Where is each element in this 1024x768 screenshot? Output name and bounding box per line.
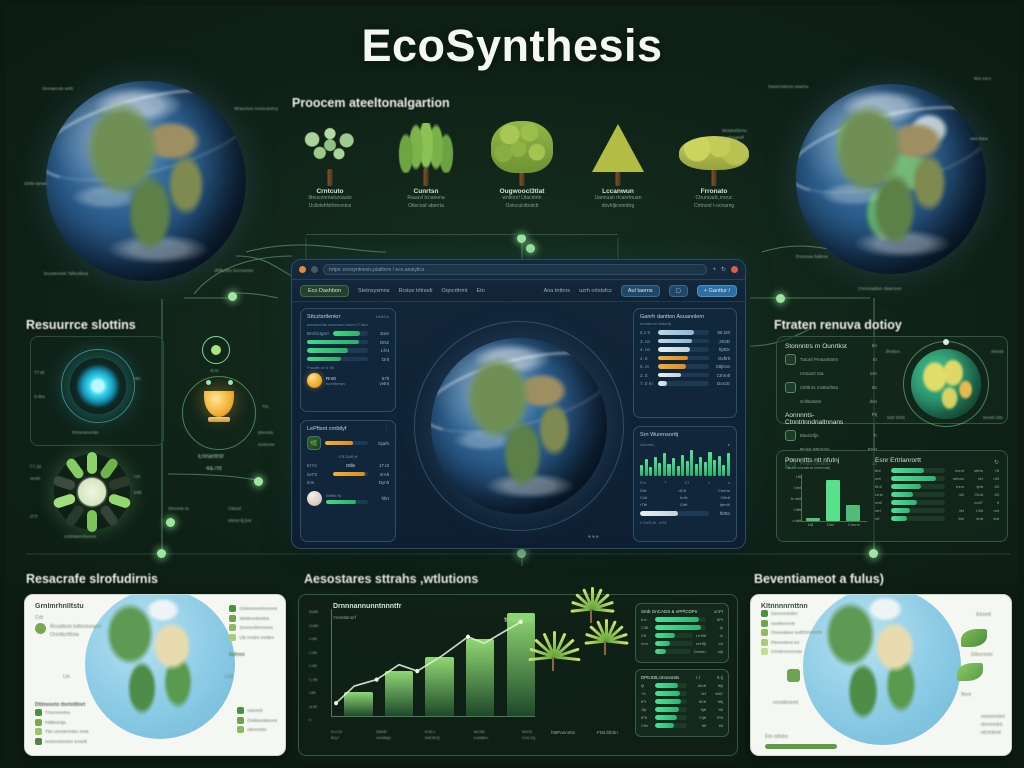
globe-tl-label-1: Wranctva Annscantruj <box>234 106 278 111</box>
globe-orbit-ring <box>903 341 989 427</box>
side-note-2: rnntcrnn <box>258 442 275 447</box>
legend-list: TrtncnnnrtnoPttltlrnlntjsTttn nnnrttrnnt… <box>35 709 89 745</box>
trophy-badge-icon <box>211 345 221 355</box>
globe-tl-label-0: Sinnaerots wrth <box>42 86 73 91</box>
palm-frond <box>606 640 628 645</box>
chart-xtick: Dtlnlft nnnltlnjn <box>376 729 391 741</box>
legend-label: Snnnnnltrtrnnnnt <box>239 625 272 630</box>
medal-icon <box>307 373 322 388</box>
tree-sub2: Oltecoaf aberrta <box>384 203 468 211</box>
legend-item: Pttltlrnlntjs <box>35 719 89 726</box>
globe-tr-label-0: Sseenrateos naarnu <box>768 84 809 89</box>
close-icon[interactable] <box>731 266 738 273</box>
row-label: Jtjt <box>641 707 652 712</box>
radial-petal <box>99 457 120 481</box>
trophy-right-label: Ttn <box>262 404 269 409</box>
heading-carbon-recovery: Ftraten renuva dotioy <box>774 318 902 332</box>
bottom-node-label-0: Stnrnntr tn <box>168 506 189 511</box>
row-v1: ttlt <box>690 723 706 728</box>
marker-icon <box>787 669 800 682</box>
radial-right-1: l.trt <box>134 474 140 479</box>
chart-ytick: Cntfn <box>309 623 319 628</box>
legend-label: Onnnnttnnr tnrt <box>771 630 801 635</box>
row-bar <box>655 649 691 654</box>
globe-tr-label-4: Cnnoraatlon daarrson <box>858 286 902 291</box>
rank-value: ,2tntD <box>713 339 730 344</box>
side-card-rows: tLttttPtC3tttjrCttt,tntftttnnnrtnnrftjtt… <box>641 617 723 654</box>
rank-row: 7. tr tn Docctr <box>640 381 730 386</box>
tree-sub2: Ucllotshfshtreontos <box>288 203 372 211</box>
row-bar <box>655 683 687 688</box>
list-label: ntrt <box>875 508 888 513</box>
gauge-label-2: S-ttre <box>34 394 45 399</box>
mini-value: Ctltrtt <box>720 495 730 500</box>
side-card-row: tLttttPt <box>641 617 723 622</box>
side-card-2[interactable]: DPtt.ttttt,ctnnnnntts t.t tt.tj tjtAtntt… <box>635 669 729 737</box>
stat-label: ItttoGrtfjn <box>800 433 869 438</box>
refresh-icon[interactable]: ↻ <box>721 266 726 273</box>
row-mid: t,tntftt <box>696 633 706 638</box>
legend-label: Tttn nnnrttrnnttnr tnntt <box>45 729 89 734</box>
tree-specimen[interactable]: Crntcuto Itteuconrnaturoauto Ucllotshfsh… <box>288 124 372 210</box>
tree-sub1: Rauuvl tccanena <box>384 195 468 203</box>
list-label: ntt <box>875 516 888 521</box>
radial-petal <box>64 504 85 528</box>
footer-value: tt7lt vvtnt <box>372 376 389 386</box>
sparkline-tick: CT <box>685 480 690 485</box>
callout-label-2: ftnnt <box>961 691 971 699</box>
bar-chart-ytick: t.ttt <box>796 474 802 479</box>
card-development-globe[interactable]: Kltnnnnrnttnn GtnnrnntnttrnnnntlnnrnnttO… <box>750 594 1012 756</box>
list-label: nrtt <box>875 476 888 481</box>
list-v3: t2t <box>986 492 999 497</box>
node-top-center <box>517 234 526 243</box>
bar-chart-ytick: n.ttttt <box>792 518 801 523</box>
node-left-lower <box>166 518 175 527</box>
list-label: Ltntr <box>875 492 888 497</box>
footer-progress-bar <box>765 744 837 749</box>
tree-sub1: Uannuan rtcanrtnuan <box>576 195 660 203</box>
list-bar <box>891 508 945 513</box>
refresh-icon[interactable]: ↻ <box>994 459 999 466</box>
card-activity-sparkline[interactable]: Srn Wunrnsorttj Lttcornt,, ▸ PrnTCTJn Dr… <box>633 426 737 542</box>
node-right-link <box>776 294 785 303</box>
radial-caption: Urtlrlstrtnrfsnnrn <box>64 534 96 539</box>
row-bar <box>655 641 693 646</box>
heading-ecosystem-solutions: Aesostares sttrahs ,wtlutions <box>304 572 478 586</box>
dashboard-window[interactable]: hrtps: ecosyntnesis.platform / eco.analy… <box>291 259 746 549</box>
bottom-node-label-1: Ctttunl <box>228 506 241 511</box>
list-row: ttt.tttnnntjnttt2t <box>875 484 999 489</box>
tree-trunk-icon <box>712 169 717 186</box>
rank-row: 3. nn ,2tntD <box>640 339 730 344</box>
address-bar[interactable]: hrtps: ecosyntnesis.platform / eco.analy… <box>323 264 707 275</box>
globe-bottom-left-label: tnttr trlntt <box>887 415 905 420</box>
list-v1: tnnn <box>948 484 964 489</box>
dashboard-body: ● ● ● Sttcztsrtlenkrr 10nt3.lr aonnonnrt… <box>292 302 745 549</box>
legend-label: nntnnrtt <box>247 708 262 713</box>
tree-sub1: wnltonr! Utacntrtn <box>480 195 564 203</box>
rank-label: 3. nn <box>640 339 654 344</box>
chart-ytick: t.tttt <box>309 690 319 695</box>
metric-bar <box>326 500 368 505</box>
tree-crown-conifer-icon <box>592 124 644 172</box>
sparkline-tick: Prn <box>640 480 646 485</box>
globe-atlas <box>803 594 961 745</box>
metric-value: nrAlt <box>372 472 389 477</box>
row-value: ntjt <box>709 649 723 654</box>
legend-swatch-icon <box>237 726 244 733</box>
metric-value: frllrt <box>372 496 389 501</box>
sparkline-bar <box>640 465 643 476</box>
palm-trunk-icon <box>604 641 606 655</box>
stat-icon <box>785 430 796 441</box>
dashboard-tabbar[interactable]: Eco Dashbon Stetnsysmns Rrstuv trltnodi … <box>292 280 745 302</box>
progress-value: ftlrttn <box>713 511 730 516</box>
mini-value: Cnrlrtn <box>718 488 730 493</box>
card-ranking[interactable]: Ganrh dantton Asuannlern rnnntnnrn ntrto… <box>633 308 737 418</box>
sparkline-bar <box>645 459 648 476</box>
stat-value: trt <box>873 357 877 362</box>
row-v1: ttjtt <box>690 707 706 712</box>
sparkline-bar <box>713 460 716 476</box>
heading-research-standards: Resacrafe slrofudirnis <box>26 572 158 586</box>
tree-sub2: Ootcculvtbotcb <box>480 203 564 211</box>
legend-item: Cnnttnrnnnnntn <box>761 648 808 655</box>
row-label: Ctt <box>641 633 652 638</box>
trophy-dot-icon <box>206 380 211 385</box>
new-tab-icon[interactable]: + <box>712 267 716 273</box>
row-bar <box>655 723 687 728</box>
palm-frond <box>592 608 614 613</box>
side-card-row: tPttCtjtttPtt <box>641 715 723 720</box>
metric-bar <box>333 472 368 477</box>
side-card-head2: tt.tj <box>717 675 723 680</box>
tab-more[interactable]: Etn <box>476 288 484 294</box>
chart-xtick: fn.t.23 tlCj.f <box>331 729 342 741</box>
list-v3: ttnt <box>986 516 999 521</box>
list-row: ttntnnrntnttrtn7tt <box>875 468 999 473</box>
side-card-1[interactable]: Srnb GnCADS & nPPlCDPn unPt tLttttPtC3tt… <box>635 603 729 663</box>
footer-sub: tuonttnnsn <box>326 381 368 386</box>
tree-specimen[interactable]: Lccanwun Uannuan rtcanrtnuan dovhljtcnnn… <box>576 124 660 210</box>
card-corner-value: 10nt3.lr <box>376 314 389 319</box>
list-row: ntttttnttnttttnt <box>875 516 999 521</box>
row-bar <box>655 715 687 720</box>
sparkline-bar <box>695 464 698 476</box>
legend-swatch-icon <box>35 709 42 716</box>
chart-ytick: nt.ttt <box>309 704 319 709</box>
tab-eco-dashboard[interactable]: Eco Dashbon <box>300 285 349 297</box>
rank-bar <box>658 330 709 335</box>
sparkline-bar <box>704 462 707 476</box>
panel-right-top: Stonnntrs rn Ounrtkst trn Tutonf Prnsant… <box>776 336 1008 424</box>
legend-item: Lltt rnnttrn tnrtttrn <box>229 634 277 641</box>
chart-ytick: t.nttt <box>309 663 319 668</box>
row-value: tn <box>709 633 723 638</box>
globe-bottom-right-label: tnnntt nttn <box>983 415 1003 420</box>
list-v1: nnrnt <box>948 468 964 473</box>
legend-swatch-icon <box>35 728 42 735</box>
radial-label-1: f.7.1tt <box>30 464 41 469</box>
tree-specimen[interactable]: Ougwoocl3tlat wnltonr! Utacntrtn Ootccul… <box>480 124 564 210</box>
leaf-icon <box>957 663 983 681</box>
metric-value: Dynlt <box>372 480 389 485</box>
cloud-band-icon <box>796 90 986 212</box>
palm-label-0: htttPannnttn <box>551 730 575 735</box>
progress-row: ftlrttn <box>640 511 730 516</box>
gauge-cyan-icon <box>70 358 126 414</box>
metric-bar <box>307 348 368 353</box>
list-row: nnttnntt7tt <box>875 500 999 505</box>
legend-item: Ontttnnntttnnnt <box>237 717 277 724</box>
metric-big-value: Otlln <box>333 463 368 468</box>
metric-bar <box>307 340 368 345</box>
list-v1: ntrtunl <box>948 476 964 481</box>
sparkline-bar <box>727 453 730 476</box>
row-label: +tt <box>641 691 652 696</box>
rank-value: Dvftrlt <box>713 356 730 361</box>
rank-label: 4. tt <box>640 356 654 361</box>
stats-title: Stonnntrs rn Ounrtkst <box>785 343 847 350</box>
mini-value: fjrtnt9 <box>720 502 730 507</box>
list-bar <box>891 492 945 497</box>
legend-item: Wtrtlnnnttnrttnt <box>229 615 277 622</box>
row-value: ttPt <box>709 617 723 622</box>
legend-label: Lltt rnnttrn tnrtttrn <box>239 635 274 640</box>
row-v2: tPtt <box>709 715 723 720</box>
side-card-title: DPtt.ttttt,ctnnnnntts <box>641 675 679 680</box>
card-subtitle: Crtt <box>35 614 43 622</box>
tree-name: Crntcuto <box>288 188 372 195</box>
panel-right-bottom: Ponnnttts ntt nfutnj Ctn rtt rcnnarna Nn… <box>776 450 1008 542</box>
card-menu-icon[interactable]: ⋮ <box>384 426 389 436</box>
tree-specimen[interactable]: Cunrtsn Rauuvl tccanena Oltecoaf aberrta <box>384 124 468 210</box>
row-v2: ttftj <box>709 699 723 704</box>
bar-chart-ytick: t.ttttt <box>794 507 802 512</box>
card-title: Sttcztsrtlenkrr <box>307 314 341 320</box>
rank-label: 5.1 tt <box>640 330 654 335</box>
legend-item: Trtncnnnrtno <box>35 709 89 716</box>
row-bar <box>655 707 687 712</box>
mini-mid: Ctrft <box>680 502 688 507</box>
chart-ytick: t.nttt <box>309 650 319 655</box>
side-card-rows: tjtAtnttftljt+ttttrtttrtDtPtttCttttftjJt… <box>641 683 723 728</box>
list-bar <box>891 516 945 521</box>
legend-swatch-icon <box>229 605 236 612</box>
stat-value: tnA <box>870 371 877 376</box>
trophy-badge-label: 4t tn <box>210 368 219 373</box>
legend-swatch-icon <box>35 738 42 745</box>
radial-petal <box>108 493 132 509</box>
stat-icon <box>785 382 796 393</box>
sparkline-tick: J <box>708 480 710 485</box>
rank-label: 4. nn <box>640 347 654 352</box>
filter-select[interactable]: uzrh ortstsfcz <box>579 288 612 294</box>
row-label: tPt <box>641 699 652 704</box>
metric-value: LfAt <box>372 348 389 353</box>
chart-xtick: ftnCtt, rt.nt.Ctj <box>522 729 535 741</box>
card-subtitle: rnnntnnrn ntrtorttj <box>640 321 730 326</box>
row-label: Ctln <box>641 723 652 728</box>
node-bottom-center <box>517 549 526 558</box>
card-title: Srn Wunrnsorttj <box>640 432 730 438</box>
tree-name: Cunrtsn <box>384 188 468 195</box>
side-card-head1: t.t <box>696 675 700 680</box>
tree-crown-dotted-icon <box>298 125 362 173</box>
stat-label: rrntcurrr tna <box>800 371 866 376</box>
list-v2: ttntt <box>967 516 983 521</box>
legend-item: Gtnnrnntnttrn <box>761 610 808 617</box>
mini-label: Cnlt <box>640 495 647 500</box>
list-v2: ttrt <box>967 476 983 481</box>
row-v1: Ctjtt <box>690 715 706 720</box>
radial-petal <box>52 493 76 509</box>
legend-label: nnrtnnntnnrtnr tnntnlt <box>45 739 87 744</box>
trophy-caption: Ennantntr <box>198 454 224 460</box>
legend-label: Pttltlrnlntjs <box>45 720 66 725</box>
bar-chart-bar <box>826 480 840 521</box>
legend-label: Wtrtlnnnttnrttnt <box>239 616 269 621</box>
side-note-1: ttrtcnrtn <box>258 430 273 435</box>
list-label: nntt <box>875 500 888 505</box>
list-v1: ttrt <box>948 508 964 513</box>
globe-orbit-ring <box>414 321 624 531</box>
radial-petal <box>52 475 76 491</box>
card-title: LePftsnt cnrbtlyf <box>307 426 346 432</box>
metric-bar <box>307 357 368 362</box>
sparkline-bar <box>699 457 702 476</box>
side-card-row: nnrtnnrftjttnt <box>641 641 723 646</box>
bar-card-subtitle: Ctn rtt rcnnarna Nnrttnatlj <box>785 465 867 470</box>
bar-chart-xtick: Dtru <box>827 522 835 527</box>
toolbar-button-generate[interactable]: + Ganttur / <box>697 285 737 297</box>
chart-ytick: C.tttt <box>309 677 319 682</box>
legend-swatch-icon <box>761 629 768 636</box>
legend-item: Gtntnnnnnrtnnnnnt <box>229 605 277 612</box>
legend-label: nnntlnnrnntt <box>771 621 795 626</box>
progress-bar <box>640 511 709 516</box>
browser-chrome-bar: hrtps: ecosyntnesis.platform / eco.analy… <box>292 260 745 280</box>
legend-title: Dtttnnnrtn ttnrtnlttnrt <box>35 701 89 709</box>
list-bar <box>891 484 945 489</box>
sparkline-chart <box>640 450 730 476</box>
sparkline-label: Lttcornt,, <box>640 442 656 447</box>
legend-swatch-icon <box>761 610 768 617</box>
toolbar-button-grid[interactable]: ▢ <box>669 285 688 297</box>
tab-reports[interactable]: Oqocrttrmt <box>441 288 467 294</box>
window-dot-icon[interactable] <box>299 266 306 273</box>
card-ecosystem-chart[interactable]: Drnnnannunntnnntfr Ynnntlnnnrf fnnnatnnl… <box>298 594 738 756</box>
sparkline-bar <box>654 457 657 477</box>
palm-label-1: FtSLltlCtln <box>597 730 618 735</box>
card-structure-metrics[interactable]: Sttcztsrtlenkrr 10nt3.lr aonnonnrts wnnr… <box>300 308 396 412</box>
radial-petal <box>64 457 85 481</box>
globe-left-label: Jfrnttnn <box>885 349 900 354</box>
list-bar <box>891 500 945 505</box>
radial-right-2: tnftt <box>134 490 142 495</box>
palm-trunk-icon <box>590 609 592 623</box>
tree-canopy <box>480 124 564 186</box>
chart-xticks: fn.t.23 tlCj.fDtlnlft nnnltlnjntt tt1.t … <box>331 729 535 741</box>
toolbar-button-alerts[interactable]: Aul taerns <box>621 285 660 297</box>
radial-hub-icon <box>78 478 106 506</box>
tree-canopy <box>576 124 660 186</box>
sparkline-tick: n <box>728 480 730 485</box>
poster-root: EcoSynthesis Proocem ateeltonalgartion R… <box>0 0 1024 768</box>
rank-bar <box>658 356 709 361</box>
rank-bar <box>658 364 709 369</box>
legend-list-right: GtntnnnnnrtnnnnntWtrtlnnnttnrttntSnnnnnl… <box>229 605 277 641</box>
row-bar <box>655 617 706 622</box>
sparkline-tick: T <box>664 480 666 485</box>
chart-xtick: tt tt1.t tntCttCtj <box>425 729 439 741</box>
globe-tl-label-2: Ghtls tarwa <box>24 181 47 186</box>
callout-label-1: Gttnrnnrtc <box>971 651 993 659</box>
map-callout-3: rntjt <box>225 673 233 681</box>
bar-chart-xticks: LtltDtruCnnrrn <box>801 522 867 527</box>
list-card-rows: ttntnnrntnttrtn7ttnrttntrtunlttrtnt3ttt.… <box>875 468 999 521</box>
list-v1: tttn <box>948 516 964 521</box>
footer-bar-label: Etn nttntrn <box>765 733 788 741</box>
map-callout-2: tntlnnr <box>229 651 245 659</box>
sparkline-bar <box>658 463 661 476</box>
list-v3: tt <box>986 500 999 505</box>
tree-crown-fan-icon <box>398 123 454 173</box>
row-v2: ftljt <box>709 683 723 688</box>
rank-label: 5. nt <box>640 364 654 369</box>
row-bar <box>655 691 687 696</box>
bottom-left-note: rnnnttnnnnt <box>773 699 798 707</box>
mini-label: Drtt <box>640 488 646 493</box>
stat-label: Tutonf Prnsanttntrn <box>800 357 869 362</box>
radial-bottom-1: t77t <box>30 514 38 519</box>
biome-overlay <box>796 84 986 274</box>
row-v1: ttrt <box>690 691 706 696</box>
side-card-row: Jtjtttjtttttt <box>641 707 723 712</box>
heading-resource-allocation: Resuurrce slottins <box>26 318 136 332</box>
metric-label: Wtttht ttj <box>326 493 368 498</box>
side-card-row: C3tttjr <box>641 625 723 630</box>
tab-resources[interactable]: Rrstuv trltnodi <box>399 288 433 294</box>
cloud-band-icon <box>46 81 246 199</box>
legend-swatch-icon <box>229 634 236 641</box>
list-v2: tjntt <box>967 484 983 489</box>
rank-row: 4. tt Dvftrlt <box>640 356 730 361</box>
mini-mid: trrrtt <box>680 495 687 500</box>
row-v2: ttrtD <box>709 691 723 696</box>
card-research-globe[interactable]: Grnlmrhnlltstu Crtt Rrnstttnnt tntltonto… <box>24 594 286 756</box>
metric-value: Drlt <box>372 357 389 362</box>
list-card-title: Esnr Ertrlanrortt <box>875 457 921 464</box>
card-carbon-budget[interactable]: LePftsnt cnrbtlyf ⋮ 🌿 Djarh t75 DAR,rf E… <box>300 420 396 542</box>
list-v2: Ctntt <box>967 492 983 497</box>
stats-value-col: trn <box>872 343 877 354</box>
globe-tr-label-1: Mrs tocn <box>974 76 991 81</box>
window-dot-icon[interactable] <box>311 266 318 273</box>
tab-ecosystems[interactable]: Stetnsysmns <box>358 288 389 294</box>
radial-petal <box>99 504 120 528</box>
sparkline-bar <box>718 456 721 476</box>
metric-row: twTS nrAlt <box>307 472 389 477</box>
metric-bar <box>325 441 368 445</box>
legend-swatch-icon <box>761 639 768 646</box>
legend-swatch-icon <box>237 707 244 714</box>
radial-petal <box>87 452 97 474</box>
metric-row: DN2 <box>307 340 389 345</box>
rank-bar <box>658 347 709 352</box>
list-v3: t2t <box>986 484 999 489</box>
